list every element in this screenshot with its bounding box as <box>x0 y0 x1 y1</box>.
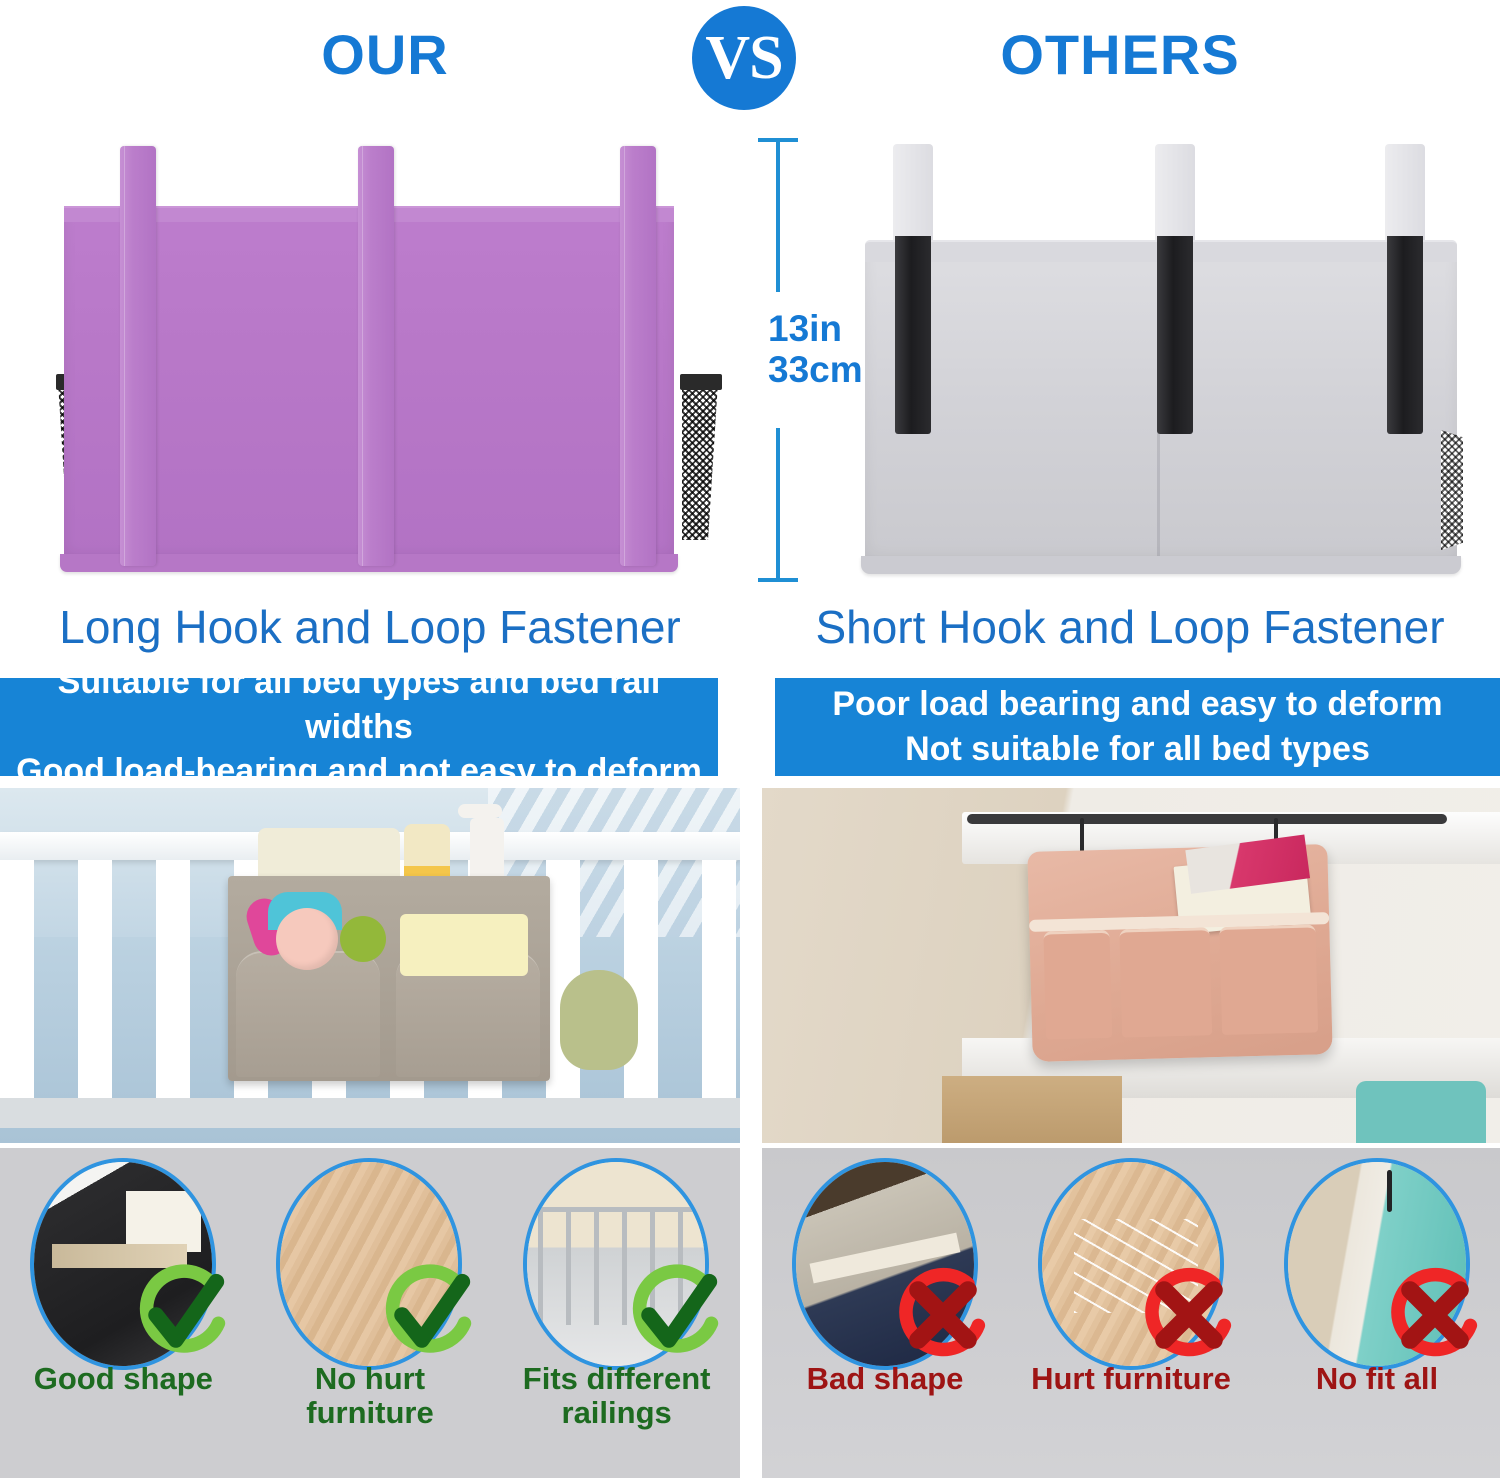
purple-organizer-image <box>50 130 730 590</box>
right-fastener-subtitle: Short Hook and Loop Fastener <box>760 600 1500 654</box>
banner-row: Suitable for all bed types and bed rail … <box>0 678 1500 788</box>
velcro-patch <box>1157 236 1193 434</box>
left-thumbnail-circles <box>0 1158 740 1373</box>
cardboard-box <box>942 1076 1122 1143</box>
label-good-shape: Good shape <box>7 1362 239 1396</box>
long-strap-1 <box>120 146 156 566</box>
label-bad-shape: Bad shape <box>769 1362 1001 1396</box>
our-title: OUR <box>180 22 590 87</box>
dimension-line-upper <box>776 140 780 292</box>
dimension-line-lower <box>776 428 780 580</box>
organizer-bottom-band <box>861 556 1461 574</box>
label-hurt-furniture: Hurt furniture <box>1015 1362 1247 1396</box>
label-fits-railings: Fits different railings <box>501 1362 733 1430</box>
velcro-patch <box>1387 236 1423 434</box>
thumbnail-item <box>778 1158 993 1373</box>
thumbnail-item <box>1024 1158 1239 1373</box>
mesh-pocket-right-icon <box>682 380 724 540</box>
others-title: OTHERS <box>900 22 1340 87</box>
left-benefits-panel: Good shape No hurt furniture Fits differ… <box>0 1148 740 1478</box>
metal-hanging-rail <box>967 814 1447 824</box>
mesh-pocket-right-icon <box>1441 430 1463 550</box>
photo-row <box>0 788 1500 1148</box>
diaper-stack <box>400 914 528 976</box>
teal-chair <box>1356 1081 1486 1143</box>
right-feature-banner: Poor load bearing and easy to deform Not… <box>775 678 1500 776</box>
right-banner-line-2: Not suitable for all bed types <box>905 727 1370 772</box>
vs-badge: VS <box>692 6 796 110</box>
left-feature-banner: Suitable for all bed types and bed rail … <box>0 678 718 776</box>
red-cross-icon <box>1383 1263 1487 1367</box>
right-banner-line-1: Poor load bearing and easy to deform <box>832 682 1442 727</box>
dimension-cap-bottom <box>758 578 798 582</box>
thumbnail-item <box>1270 1158 1485 1373</box>
short-strap-1 <box>893 144 933 434</box>
strap-loop-tip <box>893 144 933 240</box>
long-strap-2 <box>358 146 394 566</box>
bottom-comparison-row: Good shape No hurt furniture Fits differ… <box>0 1148 1500 1483</box>
red-cross-icon <box>1137 1263 1241 1367</box>
strap-loop-tip <box>1385 144 1425 240</box>
pink-organizer <box>1027 844 1332 1062</box>
label-no-hurt-furniture: No hurt furniture <box>254 1362 486 1430</box>
product-comparison-row: 13in 33cm <box>0 120 1500 600</box>
label-no-fit-all: No fit all <box>1261 1362 1493 1396</box>
left-banner-line-1: Suitable for all bed types and bed rail … <box>0 660 718 750</box>
mesh-pocket-right-trim <box>680 374 722 390</box>
short-strap-2 <box>1155 144 1195 434</box>
strap-loop-tip <box>1155 144 1195 240</box>
velcro-patch <box>895 236 931 434</box>
thumbnail-item <box>262 1158 477 1373</box>
crib-usage-photo <box>0 788 740 1143</box>
short-strap-3 <box>1385 144 1425 434</box>
thumbnail-item <box>509 1158 724 1373</box>
green-check-icon <box>622 1263 726 1367</box>
thumbnail-item <box>16 1158 231 1373</box>
right-thumbnail-labels: Bad shape Hurt furniture No fit all <box>762 1362 1500 1472</box>
front-pocket-1 <box>1043 930 1112 1040</box>
green-plush-elephant <box>560 970 638 1070</box>
plush-face-toy <box>276 908 338 970</box>
green-toy <box>340 916 386 962</box>
front-pocket-3 <box>1219 924 1318 1034</box>
comparison-header: OUR VS OTHERS <box>0 0 1500 120</box>
right-drawbacks-panel: Bad shape Hurt furniture No fit all <box>762 1148 1500 1478</box>
right-thumbnail-circles <box>762 1158 1500 1373</box>
red-cross-icon <box>891 1263 995 1367</box>
bed-frame-usage-photo <box>762 788 1500 1143</box>
green-check-icon <box>375 1263 479 1367</box>
left-fastener-subtitle: Long Hook and Loop Fastener <box>0 600 740 654</box>
front-pocket-2 <box>1119 927 1212 1037</box>
left-thumbnail-labels: Good shape No hurt furniture Fits differ… <box>0 1362 740 1472</box>
long-strap-3 <box>620 146 656 566</box>
green-check-icon <box>129 1263 233 1367</box>
gray-organizer-image <box>855 130 1475 590</box>
